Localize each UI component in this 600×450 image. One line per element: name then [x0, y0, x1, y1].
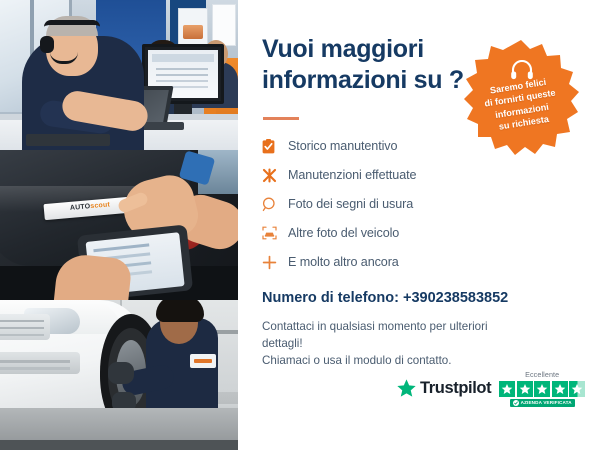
page-title: Vuoi maggiori informazioni su ? [262, 34, 477, 96]
star-box [517, 381, 533, 397]
car-grille [0, 314, 50, 340]
heading-line-2: informazioni su ? [262, 65, 477, 96]
trustpilot-rating[interactable]: Trustpilot Eccellente AZIENDA VERIFICA [396, 370, 585, 407]
trustpilot-star-icon [396, 378, 417, 398]
star-box [499, 381, 515, 397]
feature-item: E molto altro ancora [262, 248, 502, 276]
feature-label: E molto altro ancora [288, 255, 399, 269]
plus-icon [262, 255, 288, 270]
photo-column: AUTOscout [0, 0, 238, 450]
heading-line-1: Vuoi maggiori [262, 34, 477, 65]
contact-line-2: Chiamaci o usa il modulo di contatto. [262, 352, 512, 369]
headset-earcup [40, 36, 54, 53]
star-rating [499, 381, 585, 397]
headset-icon [510, 60, 534, 80]
star-box-partial [569, 381, 585, 397]
workshop-wheel-photo [0, 300, 238, 450]
floor-shadow [0, 440, 238, 450]
verified-text: AZIENDA VERIFICATA [521, 400, 572, 405]
trustpilot-score: Eccellente AZIENDA VERIFICATA [499, 370, 585, 407]
car-photo-frame-icon [262, 226, 288, 240]
wrench-cross-icon [262, 168, 288, 183]
contact-line-1: Contattaci in qualsiasi momento per ulte… [262, 318, 512, 352]
trustpilot-logo: Trustpilot [396, 378, 491, 398]
mechanic-hair [156, 300, 204, 322]
feature-list: Storico manutentivo Manutenzioni effettu… [262, 132, 502, 277]
rating-label: Eccellente [525, 370, 559, 379]
call-center-photo [0, 0, 238, 150]
mechanic-glove-upper [108, 362, 134, 384]
contact-text: Contattaci in qualsiasi momento per ulte… [262, 318, 512, 369]
verified-check-icon [513, 400, 519, 406]
uniform-badge [190, 354, 216, 368]
car-lower-grille [0, 352, 80, 374]
magnifier-icon [262, 197, 288, 212]
verified-badge: AZIENDA VERIFICATA [510, 399, 575, 407]
phone-number[interactable]: Numero di telefono: +390238583852 [262, 290, 508, 306]
sticker-brand-text: AUTOscout [70, 201, 111, 211]
headset-band [44, 20, 100, 27]
trustpilot-wordmark: Trustpilot [420, 379, 491, 398]
star-box [534, 381, 550, 397]
feature-item: Storico manutentivo [262, 132, 502, 160]
desk-tray [26, 134, 110, 146]
content-panel: Vuoi maggiori informazioni su ? Saremo f… [238, 0, 600, 450]
car-inspection-photo: AUTOscout [0, 150, 238, 300]
feature-item: Altre foto del veicolo [262, 219, 502, 247]
feature-label: Altre foto del veicolo [288, 226, 399, 240]
feature-item: Manutenzioni effettuate [262, 161, 502, 189]
feature-label: Manutenzioni effettuate [288, 168, 416, 182]
wall-poster [178, 8, 208, 46]
feature-item: Foto dei segni di usura [262, 190, 502, 218]
feature-label: Foto dei segni di usura [288, 197, 413, 211]
feature-label: Storico manutentivo [288, 139, 397, 153]
title-underline [263, 117, 299, 120]
star-box [552, 381, 568, 397]
clipboard-check-icon [262, 139, 288, 154]
promo-banner: AUTOscout [0, 0, 600, 450]
